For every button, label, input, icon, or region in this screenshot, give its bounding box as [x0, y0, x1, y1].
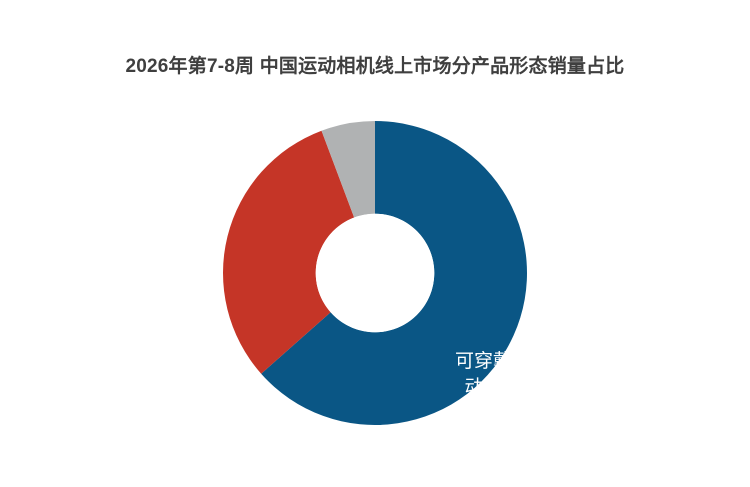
donut-svg	[223, 121, 527, 425]
donut-chart-plot-area: 全景类运动 相机 可穿戴运 动相机 传统类运 动相机	[223, 121, 527, 425]
chart-title: 2026年第7-8周 中国运动相机线上市场分产品形态销量占比	[0, 54, 750, 80]
donut-center-hole	[316, 214, 435, 333]
donut-chart-figure: 2026年第7-8周 中国运动相机线上市场分产品形态销量占比 全景类运动 相机 …	[0, 0, 750, 444]
donut-slice-label-panoramic: 全景类运动 相机	[522, 254, 662, 306]
donut-slice-label-traditional: 传统类运 动相机	[628, 435, 748, 487]
